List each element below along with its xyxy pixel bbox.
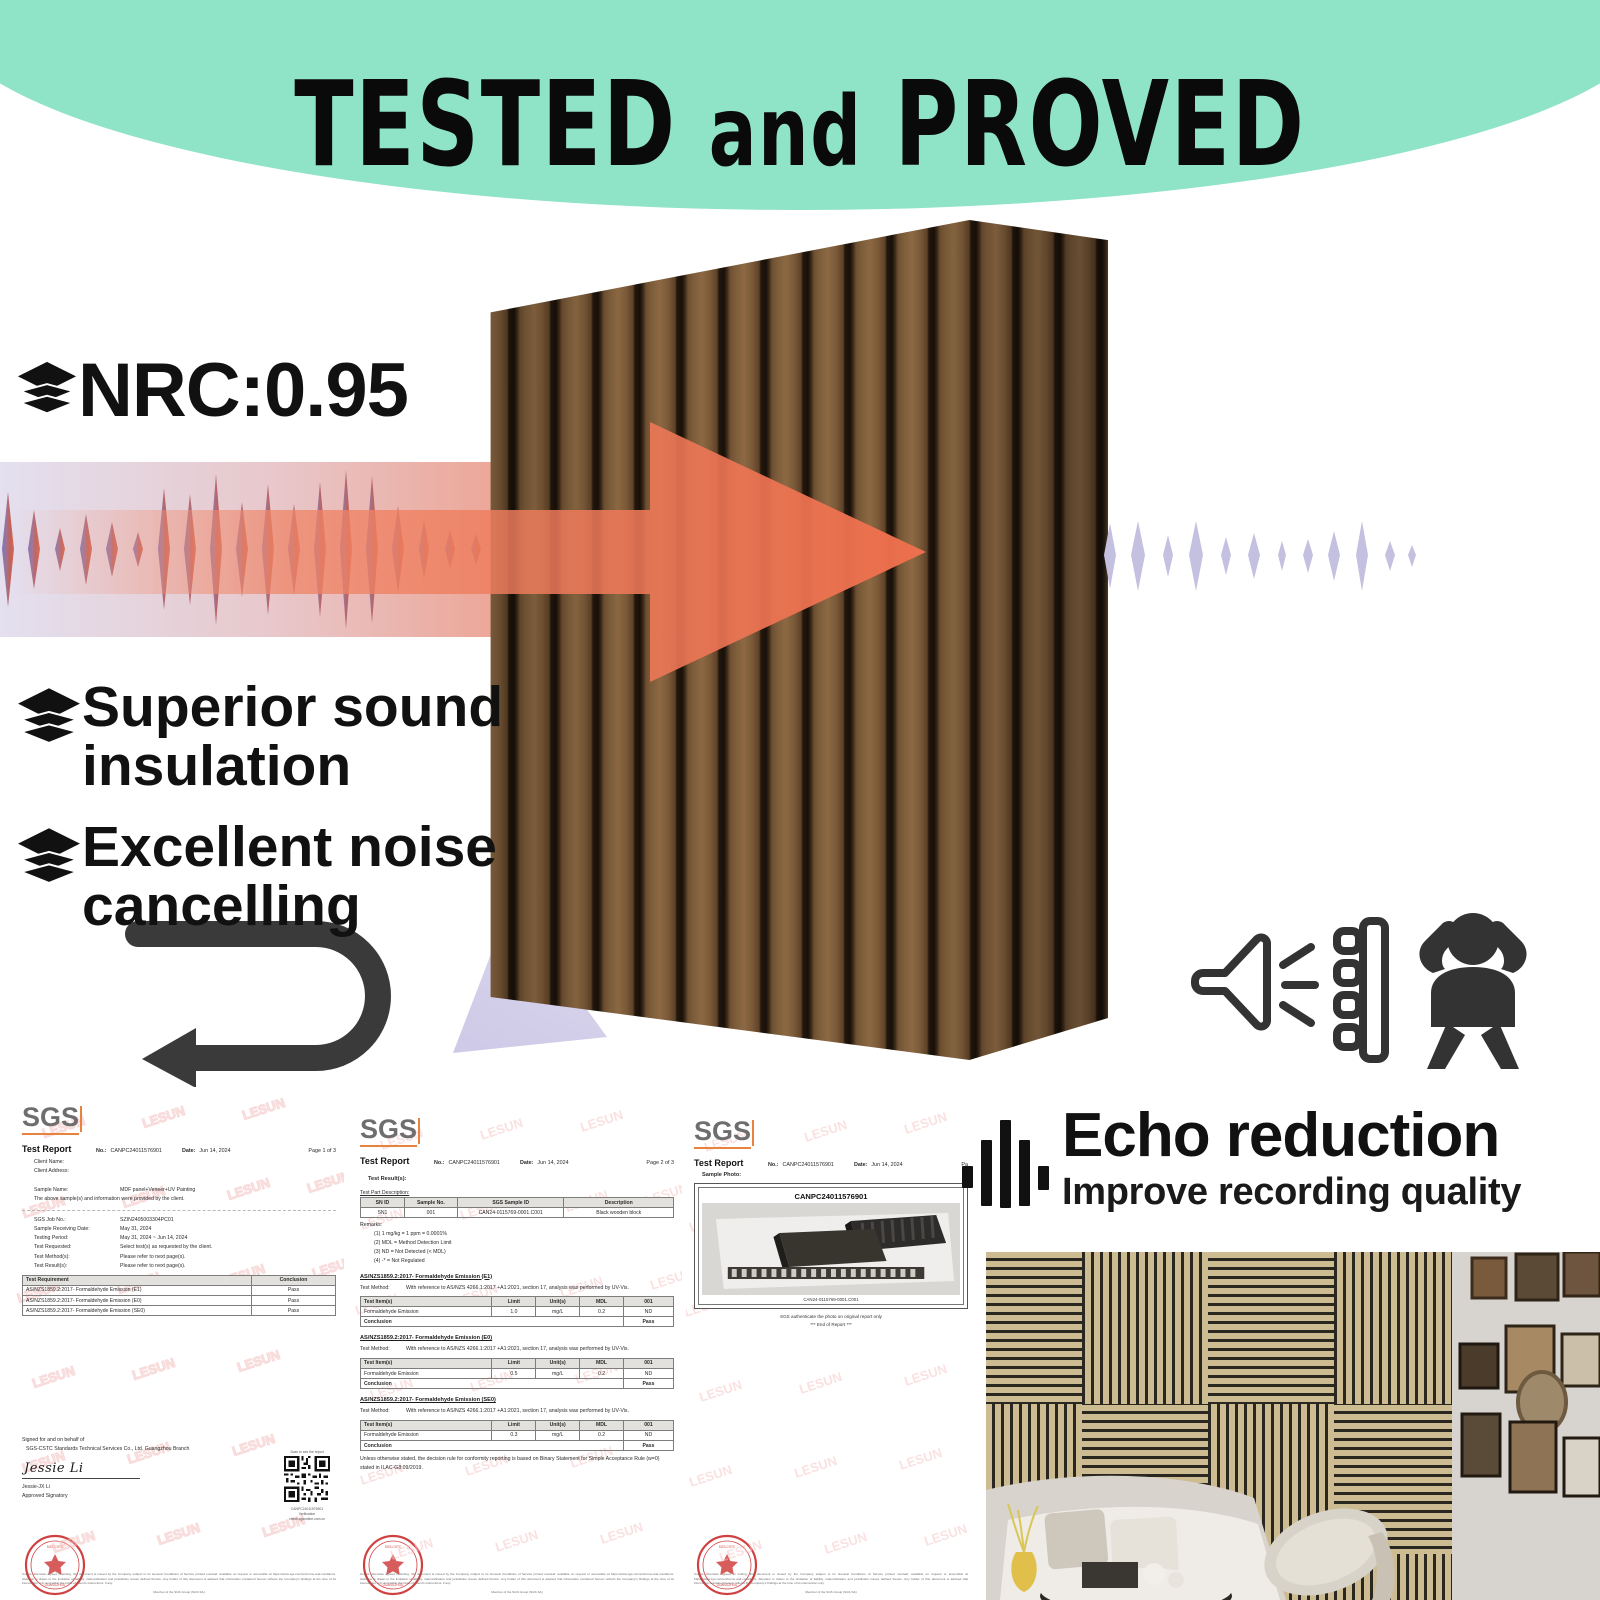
job-no-row: SGS Job No.: SZIN2405003304PC01 <box>34 1216 336 1225</box>
icons-row <box>1185 895 1585 1070</box>
job-no-label: SGS Job No.: <box>34 1216 120 1225</box>
sgs-logo: SGS <box>694 1118 751 1149</box>
report-no-value: CANPC24011576901 <box>110 1148 161 1154</box>
room-scene <box>986 1252 1600 1600</box>
col-001: 001 <box>623 1420 673 1430</box>
test-methods-row: Test Method(s): Please refer to next pag… <box>34 1253 336 1262</box>
cell-value-se0: ND <box>623 1430 673 1440</box>
client-address-label: Client Address: <box>34 1167 120 1176</box>
cell-value-e0: ND <box>623 1368 673 1378</box>
report-no-label: No.: <box>434 1160 444 1166</box>
cell-limit-e0: 0.5 <box>492 1368 536 1378</box>
report-no-label: No.: <box>768 1162 778 1168</box>
col-unit: Unit(s) <box>536 1420 580 1430</box>
product-infographic: TESTED and PROVED <box>0 0 1600 1600</box>
table-row: Conclusion Pass <box>361 1317 674 1327</box>
conclusion-e0: Pass <box>252 1296 336 1306</box>
testing-period-label: Testing Period: <box>34 1234 120 1243</box>
cell-description: Black wooden block <box>564 1208 674 1218</box>
attenuated-sound-wave <box>1100 505 1430 605</box>
cell-mdl-e0: 0.2 <box>580 1368 624 1378</box>
cell-unit-e1: mg/L <box>536 1307 580 1317</box>
svg-text:LESUN: LESUN <box>687 1462 734 1490</box>
report-header: Test Report No.: CANPC24011576901 Date: … <box>360 1156 674 1166</box>
report-page-number: Page 1 of 3 <box>308 1148 336 1154</box>
sgs-report-page-2[interactable]: LESUN LESUN LESUN LESUN LESUN LESUN LESU… <box>352 1110 682 1600</box>
cell-item-e1: Formaldehyde Emission <box>361 1307 492 1317</box>
result-table-e1: Test Item(s) Limit Unit(s) MDL 001 Forma… <box>360 1296 674 1328</box>
qr-code-block[interactable]: Scan to see the report <box>284 1450 330 1521</box>
speaker-sound-icon <box>1195 937 1315 1026</box>
test-method-se0: Test Method: With reference to AS/NZS 42… <box>360 1407 674 1415</box>
table-row: SN1 001 CAN24-0115769-0001.C001 Black wo… <box>361 1208 674 1218</box>
photo-authenticate-note: SGS authenticate the photo on original r… <box>694 1313 968 1320</box>
table-row: Formaldehyde Emission 0.5 mg/L 0.2 ND <box>361 1368 674 1378</box>
installed-room-photo <box>986 1252 1600 1600</box>
end-of-report-note: *** End of Report *** <box>694 1321 968 1328</box>
conclusion-value-se0: Pass <box>623 1441 673 1451</box>
cell-value-e1: ND <box>623 1307 673 1317</box>
feature-sound-insulation: Superior sound insulation <box>16 678 536 795</box>
sound-insulation-label: Superior sound insulation <box>82 678 536 795</box>
test-results-row: Test Result(s): Please refer to next pag… <box>34 1262 336 1271</box>
report-page-number: Page 2 of 3 <box>646 1160 674 1166</box>
client-name-value <box>120 1158 336 1167</box>
cell-mdl-e1: 0.2 <box>580 1307 624 1317</box>
test-requested-row: Test Requested: Select test(s) as reques… <box>34 1243 336 1252</box>
client-name-row: Client Name: <box>34 1158 336 1167</box>
receiving-date-label: Sample Receiving Date: <box>34 1225 120 1234</box>
qr-caption-url: check.sgsonline.com.cn <box>284 1517 330 1522</box>
footer-member: Member of the SGS Group (SGS SA) <box>22 1590 336 1594</box>
requirement-e1: AS/NZS1859.2:2017- Formaldehyde Emission… <box>23 1285 252 1295</box>
col-test-item: Test Item(s) <box>361 1358 492 1368</box>
test-part-description-label: Test Part Description: <box>360 1190 674 1196</box>
decision-rule-note: Unless otherwise stated, the decision ru… <box>360 1455 674 1473</box>
method-label-e0: Test Method: <box>360 1345 406 1353</box>
requirement-se0: AS/NZS1859.2:2017- Formaldehyde Emission… <box>23 1306 252 1316</box>
cell-item-se0: Formaldehyde Emission <box>361 1430 492 1440</box>
cell-item-e0: Formaldehyde Emission <box>361 1368 492 1378</box>
echo-reduction-block: Echo reduction Improve recording quality <box>960 1105 1521 1214</box>
sample-name-label: Sample Name: <box>34 1186 120 1195</box>
table-row: AS/NZS1859.2:2017- Formaldehyde Emission… <box>23 1296 336 1306</box>
title-proved: PROVED <box>895 55 1306 193</box>
svg-text:LESUN: LESUN <box>697 1377 744 1405</box>
col-unit: Unit(s) <box>536 1358 580 1368</box>
report-date-value: Jun 14, 2024 <box>199 1148 230 1154</box>
sample-description-table: SN ID Sample No. SGS Sample ID Descripti… <box>360 1197 674 1218</box>
cell-unit-e0: mg/L <box>536 1368 580 1378</box>
cell-sgs-sample-id: CAN24-0115769-0001.C001 <box>458 1208 564 1218</box>
col-sample-no: Sample No. <box>404 1198 457 1208</box>
table-row: AS/NZS1859.2:2017- Formaldehyde Emission… <box>23 1285 336 1295</box>
svg-text:SGS-CSTC: SGS-CSTC <box>719 1545 736 1549</box>
feature-noise-cancelling: Excellent noise cancelling <box>16 818 536 935</box>
col-test-item: Test Item(s) <box>361 1296 492 1306</box>
col-conclusion: Conclusion <box>252 1275 336 1285</box>
svg-text:LESUN: LESUN <box>155 1520 202 1548</box>
nrc-label: NRC:0.95 <box>78 352 408 430</box>
page-title: TESTED and PROVED <box>144 55 1456 193</box>
receiving-date-value: May 31, 2024 <box>120 1225 336 1234</box>
u-turn-reflection-arrow <box>120 912 420 1087</box>
col-sgs-sample-id: SGS Sample ID <box>458 1198 564 1208</box>
footer-terms: Unless otherwise agreed in writing, this… <box>694 1572 968 1585</box>
col-001: 001 <box>623 1296 673 1306</box>
sound-transmission-arrow <box>10 402 940 702</box>
sgs-report-page-1[interactable]: LESUN LESUN LESUN LESUN LESUN LESUN LESU… <box>14 1098 344 1600</box>
section-title-se0: AS/NZS1859.2:2017- Formaldehyde Emission… <box>360 1397 674 1403</box>
test-results-value: Please refer to next page(s). <box>120 1262 336 1271</box>
footer-member: Member of the SGS Group (SGS SA) <box>360 1590 674 1594</box>
method-text-e0: With reference to AS/NZS 4266.1:2017 +A1… <box>406 1345 629 1353</box>
qr-code-icon[interactable] <box>284 1456 330 1502</box>
report-date-value: Jun 14, 2024 <box>537 1160 568 1166</box>
svg-text:SGS-CSTC: SGS-CSTC <box>385 1545 402 1549</box>
client-name-label: Client Name: <box>34 1158 120 1167</box>
svg-text:LESUN: LESUN <box>922 1521 969 1549</box>
layers-stack-icon <box>16 356 78 418</box>
test-results-label: Test Result(s): <box>34 1262 120 1271</box>
footer-terms: Unless otherwise agreed in writing, this… <box>22 1572 336 1585</box>
table-header-row: Test Item(s) Limit Unit(s) MDL 001 <box>361 1358 674 1368</box>
col-mdl: MDL <box>580 1296 624 1306</box>
report-header: Test Report No.: CANPC24011576901 Date: … <box>22 1144 336 1154</box>
remark-4: (4) -* = Not Regulated <box>374 1257 674 1266</box>
col-description: Description <box>564 1198 674 1208</box>
report-date-label: Date: <box>520 1160 533 1166</box>
col-mdl: MDL <box>580 1420 624 1430</box>
col-001: 001 <box>623 1358 673 1368</box>
report-no-label: No.: <box>96 1148 106 1154</box>
col-limit: Limit <box>492 1420 536 1430</box>
signature-rule <box>22 1478 140 1479</box>
layers-stack-icon <box>16 822 82 888</box>
table-header-row: Test Item(s) Limit Unit(s) MDL 001 <box>361 1420 674 1430</box>
report-header: Test Report No.: CANPC24011576901 Date: … <box>694 1158 968 1168</box>
person-covering-ears-icon <box>1419 913 1526 1069</box>
cell-sn-id: SN1 <box>361 1208 405 1218</box>
col-test-item: Test Item(s) <box>361 1420 492 1430</box>
col-limit: Limit <box>492 1358 536 1368</box>
client-address-value <box>120 1167 336 1176</box>
table-header-row: SN ID Sample No. SGS Sample ID Descripti… <box>361 1198 674 1208</box>
testing-period-row: Testing Period: May 31, 2024 ~ Jun 14, 2… <box>34 1234 336 1243</box>
sample-photo-image <box>702 1203 960 1295</box>
remarks-label: Remarks: <box>360 1221 674 1230</box>
job-no-value: SZIN2405003304PC01 <box>120 1216 336 1225</box>
feature-nrc: NRC:0.95 <box>16 352 408 430</box>
sample-photo-caption: CAN24-0115769-0001.C001 <box>702 1297 960 1302</box>
test-method-e0: Test Method: With reference to AS/NZS 42… <box>360 1345 674 1353</box>
test-requested-label: Test Requested: <box>34 1243 120 1252</box>
table-row: AS/NZS1859.2:2017- Formaldehyde Emission… <box>23 1306 336 1316</box>
result-table-se0: Test Item(s) Limit Unit(s) MDL 001 Forma… <box>360 1420 674 1452</box>
conclusion-label-se0: Conclusion <box>361 1441 624 1451</box>
svg-text:LESUN: LESUN <box>902 1361 949 1389</box>
svg-text:LESUN: LESUN <box>797 1369 844 1397</box>
echo-title: Echo reduction <box>1062 1105 1521 1167</box>
section-title-e1: AS/NZS1859.2:2017- Formaldehyde Emission… <box>360 1274 674 1280</box>
report-footer: Unless otherwise agreed in writing, this… <box>22 1572 336 1594</box>
acoustic-panel-icon <box>1337 921 1385 1059</box>
remark-3: (3) ND = Not Detected (< MDL) <box>374 1248 674 1257</box>
echo-subtitle: Improve recording quality <box>1062 1171 1521 1214</box>
report-title: Test Report <box>22 1144 96 1154</box>
col-test-requirement: Test Requirement <box>23 1275 252 1285</box>
footer-member: Member of the SGS Group (SGS SA) <box>694 1590 968 1594</box>
cell-limit-se0: 0.3 <box>492 1430 536 1440</box>
col-limit: Limit <box>492 1296 536 1306</box>
test-methods-value: Please refer to next page(s). <box>120 1253 336 1262</box>
report-title: Test Report <box>360 1156 434 1166</box>
sgs-report-page-3[interactable]: LESUN LESUN LESUN LESUN LESUN LESUN LESU… <box>686 1112 976 1600</box>
method-text-se0: With reference to AS/NZS 4266.1:2017 +A1… <box>406 1407 629 1415</box>
table-header-row: Test Item(s) Limit Unit(s) MDL 001 <box>361 1296 674 1306</box>
test-methods-label: Test Method(s): <box>34 1253 120 1262</box>
sgs-logo: SGS <box>22 1104 79 1135</box>
remark-2: (2) MDL = Method Detection Limit <box>374 1239 674 1248</box>
qr-caption-id: CANPC24011576901 <box>284 1507 330 1512</box>
svg-text:LESUN: LESUN <box>493 1527 540 1555</box>
conclusion-label-e0: Conclusion <box>361 1379 624 1389</box>
sample-name-value: MDF panel+Veneer+UV Painting <box>120 1186 336 1195</box>
report-no-value: CANPC24011576901 <box>448 1160 499 1166</box>
svg-text:SGS-CSTC: SGS-CSTC <box>47 1545 64 1549</box>
col-sn-id: SN ID <box>361 1198 405 1208</box>
audio-bars-icon <box>960 1112 1052 1208</box>
noise-cancelling-label: Excellent noise cancelling <box>82 818 536 935</box>
cell-limit-e1: 1.0 <box>492 1307 536 1317</box>
result-table-e0: Test Item(s) Limit Unit(s) MDL 001 Forma… <box>360 1358 674 1390</box>
sample-photo-id: CANPC24011576901 <box>702 1192 960 1201</box>
svg-text:LESUN: LESUN <box>822 1529 869 1557</box>
col-unit: Unit(s) <box>536 1296 580 1306</box>
report-date-value: Jun 14, 2024 <box>871 1162 902 1168</box>
sgs-logo: SGS <box>360 1116 417 1147</box>
receiving-date-row: Sample Receiving Date: May 31, 2024 <box>34 1225 336 1234</box>
conclusion-e1: Pass <box>252 1285 336 1295</box>
report-footer: Unless otherwise agreed in writing, this… <box>694 1572 968 1594</box>
report-title: Test Report <box>694 1158 768 1168</box>
footer-terms: Unless otherwise agreed in writing, this… <box>360 1572 674 1585</box>
cell-mdl-se0: 0.2 <box>580 1430 624 1440</box>
svg-text:LESUN: LESUN <box>598 1519 645 1547</box>
sample-photo-label: Sample Photo: <box>694 1172 968 1178</box>
layers-stack-icon <box>16 682 82 748</box>
col-mdl: MDL <box>580 1358 624 1368</box>
test-requirement-table: Test Requirement Conclusion AS/NZS1859.2… <box>22 1275 336 1317</box>
remark-1: (1) 1 mg/kg = 1 ppm = 0.0001% <box>374 1230 674 1239</box>
test-requested-value: Select test(s) as requested by the clien… <box>120 1243 336 1252</box>
svg-text:LESUN: LESUN <box>792 1453 839 1481</box>
signed-line-1: Signed for and on behalf of <box>22 1436 336 1445</box>
conclusion-value-e0: Pass <box>623 1379 673 1389</box>
title-and: and <box>709 76 863 188</box>
conclusion-label-e1: Conclusion <box>361 1317 624 1327</box>
cell-sample-no: 001 <box>404 1208 457 1218</box>
section-title-e0: AS/NZS1859.2:2017- Formaldehyde Emission… <box>360 1335 674 1341</box>
test-method-e1: Test Method: With reference to AS/NZS 42… <box>360 1284 674 1292</box>
test-results-heading: Test Result(s): <box>360 1176 674 1182</box>
client-address-row: Client Address: <box>34 1167 336 1176</box>
sample-photo-inner: CANPC24011576901 <box>698 1187 964 1305</box>
table-row: Conclusion Pass <box>361 1379 674 1389</box>
testing-period-value: May 31, 2024 ~ Jun 14, 2024 <box>120 1234 336 1243</box>
sample-photo-frame: CANPC24011576901 <box>694 1183 968 1309</box>
table-header-row: Test Requirement Conclusion <box>23 1275 336 1285</box>
report-date-label: Date: <box>182 1148 195 1154</box>
signature-block: Signed for and on behalf of SGS-CSTC Sta… <box>22 1436 336 1500</box>
title-tested: TESTED <box>294 55 677 193</box>
cell-unit-se0: mg/L <box>536 1430 580 1440</box>
sample-name-row: Sample Name: MDF panel+Veneer+UV Paintin… <box>34 1186 336 1195</box>
table-row: Conclusion Pass <box>361 1441 674 1451</box>
table-row: Formaldehyde Emission 1.0 mg/L 0.2 ND <box>361 1307 674 1317</box>
svg-text:LESUN: LESUN <box>897 1445 944 1473</box>
conclusion-value-e1: Pass <box>623 1317 673 1327</box>
table-row: Formaldehyde Emission 0.3 mg/L 0.2 ND <box>361 1430 674 1440</box>
method-label-e1: Test Method: <box>360 1284 406 1292</box>
report-no-value: CANPC24011576901 <box>782 1162 833 1168</box>
report-footer: Unless otherwise agreed in writing, this… <box>360 1572 674 1594</box>
report-date-label: Date: <box>854 1162 867 1168</box>
method-text-e1: With reference to AS/NZS 4266.1:2017 +A1… <box>406 1284 629 1292</box>
provided-note: The above sample(s) and information were… <box>34 1195 336 1204</box>
requirement-e0: AS/NZS1859.2:2017- Formaldehyde Emission… <box>23 1296 252 1306</box>
conclusion-se0: Pass <box>252 1306 336 1316</box>
method-label-se0: Test Method: <box>360 1407 406 1415</box>
divider <box>22 1210 336 1211</box>
